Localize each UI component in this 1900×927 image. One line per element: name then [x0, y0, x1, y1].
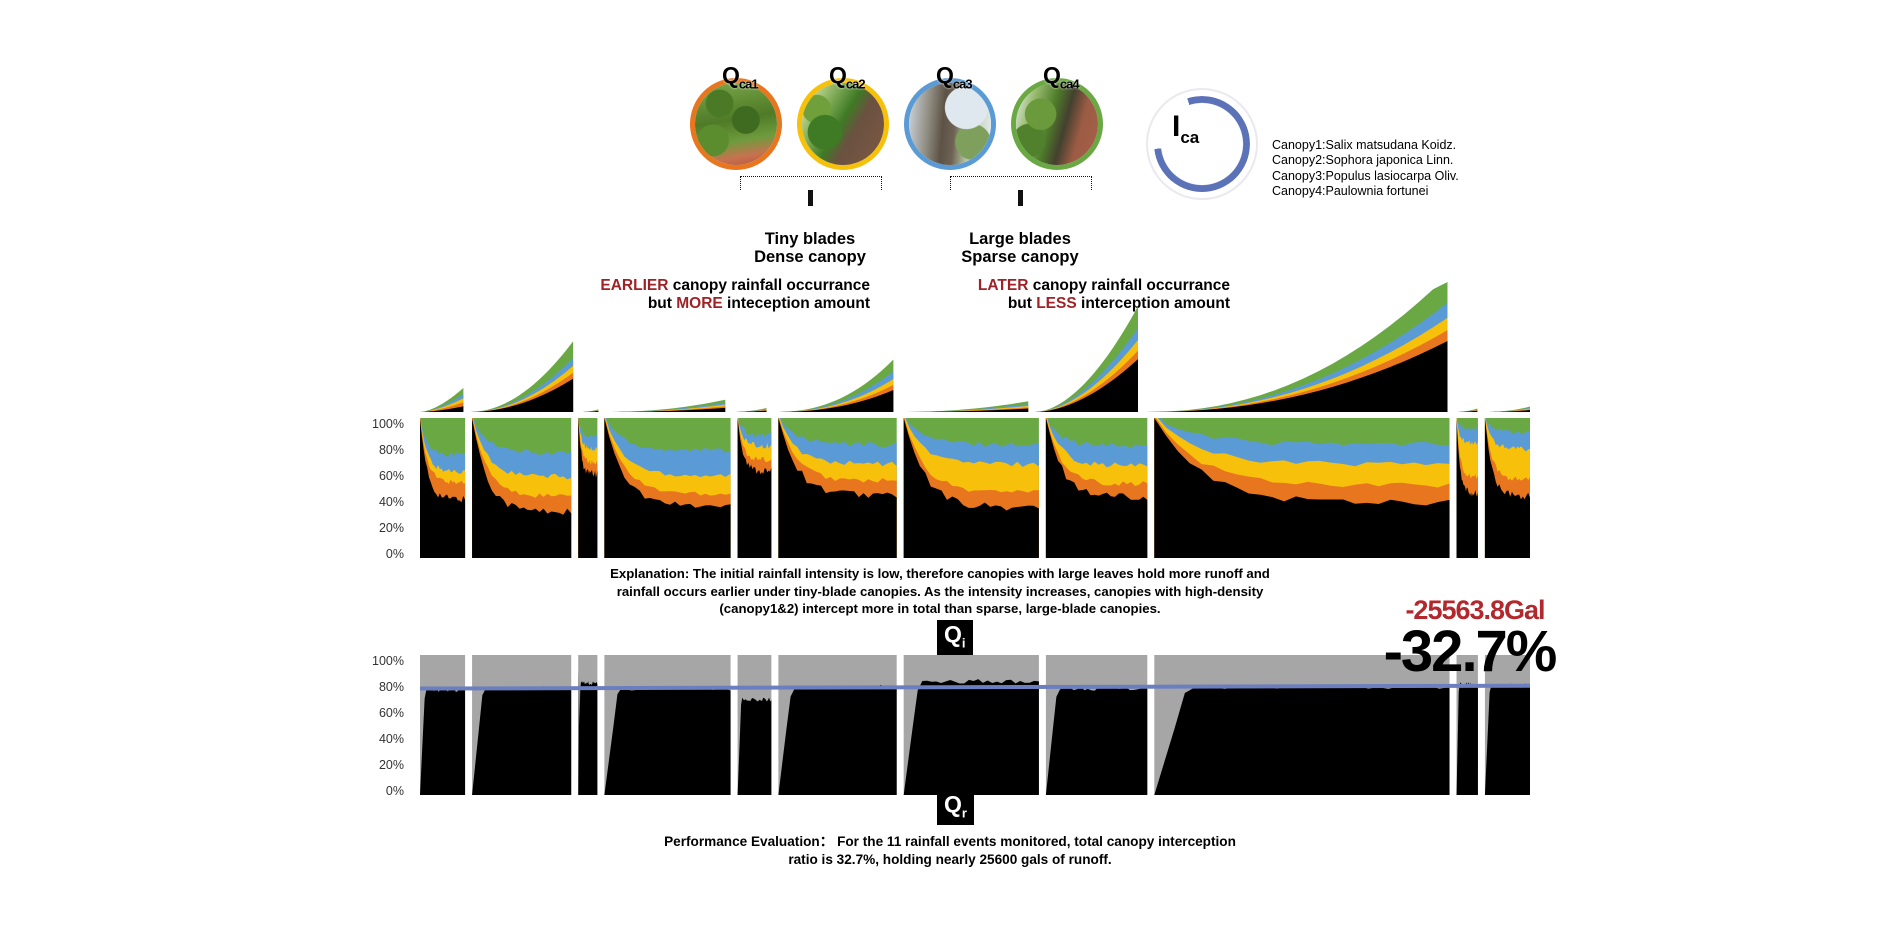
bracket-large-blades — [950, 176, 1092, 190]
canopy-symbol-main-3: Q — [936, 62, 953, 88]
canopy-circle-4 — [1011, 78, 1103, 170]
share-axis-tick-80pct: 80% — [379, 444, 404, 457]
share-axis-tick-0pct: 0% — [386, 548, 404, 561]
qi-symbol: Q — [944, 621, 962, 647]
canopy-symbol-main-2: Q — [829, 62, 846, 88]
ica-ring-arc — [1154, 96, 1250, 192]
chart-cumulative-volume — [420, 282, 1530, 412]
runoff-area-event-2 — [472, 686, 571, 795]
ica-symbol: Ica — [1172, 112, 1199, 146]
runoff-area-event-6 — [778, 685, 896, 795]
runoff-area-event-1 — [420, 688, 465, 795]
canopy-photo-4 — [1016, 83, 1098, 165]
canopy-symbol-sub-1: ca1 — [739, 77, 758, 92]
species-legend-item-3: Canopy3:Populus lasiocarpa Oliv. — [1272, 169, 1459, 184]
axis-labels-runoff-chart: 100%80%60%40%20%0% — [358, 655, 404, 795]
group-label-large-blades: Large blades Sparse canopy — [940, 230, 1100, 267]
bracket-stem-large-blades — [1018, 190, 1023, 206]
group-label-tiny-line2: Dense canopy — [730, 248, 890, 266]
bracket-stem-tiny-blades — [808, 190, 813, 206]
canopy-photo-3 — [909, 83, 991, 165]
qr-symbol: Q — [944, 791, 962, 817]
canopy-symbol-sub-2: ca2 — [846, 77, 865, 92]
qi-sub: i — [962, 636, 966, 651]
runoff-area-event-8 — [1046, 686, 1147, 795]
runoff-axis-tick-40pct: 40% — [379, 733, 404, 746]
axis-labels-share-chart: 100%80%60%40%20%0% — [358, 418, 404, 558]
canopy-symbol-3: Qca3 — [936, 64, 972, 91]
species-legend-item-1: Canopy1:Salix matsudana Koidz. — [1272, 138, 1459, 153]
infographic-canvas: Qca1Qca2Qca3Qca4 Ica Canopy1:Salix matsu… — [0, 0, 1900, 927]
runoff-axis-tick-80pct: 80% — [379, 681, 404, 694]
runoff-area-event-5 — [738, 697, 772, 795]
canopy-circle-3 — [904, 78, 996, 170]
share-axis-tick-40pct: 40% — [379, 496, 404, 509]
species-legend-item-2: Canopy2:Sophora japonica Linn. — [1272, 153, 1459, 168]
canopy-circle-1 — [690, 78, 782, 170]
species-legend-item-4: Canopy4:Paulownia fortunei — [1272, 184, 1459, 199]
group-label-tiny-line1: Tiny blades — [730, 230, 890, 248]
canopy-circle-2 — [797, 78, 889, 170]
canopy-symbol-1: Qca1 — [722, 64, 758, 91]
species-legend: Canopy1:Salix matsudana Koidz.Canopy2:So… — [1272, 138, 1459, 199]
ica-symbol-sub: ca — [1180, 128, 1199, 147]
runoff-axis-tick-20pct: 20% — [379, 759, 404, 772]
canopy-symbol-4: Qca4 — [1043, 64, 1079, 91]
canopy-photo-row: Qca1Qca2Qca3Qca4 — [690, 78, 1120, 170]
share-axis-tick-60pct: 60% — [379, 470, 404, 483]
group-label-tiny-blades: Tiny blades Dense canopy — [730, 230, 890, 267]
canopy-symbol-2: Qca2 — [829, 64, 865, 91]
runoff-area-event-4 — [604, 686, 730, 795]
label-qi-interception: Qi — [937, 620, 973, 655]
label-qr-runoff: Qr — [937, 790, 974, 825]
canopy-symbol-sub-3: ca3 — [953, 77, 972, 92]
group-label-large-line2: Sparse canopy — [940, 248, 1100, 266]
qr-sub: r — [962, 806, 967, 821]
canopy-symbol-main-4: Q — [1043, 62, 1060, 88]
performance-badge: -25563.8Gal -32.7% — [1392, 575, 1592, 775]
canopy-symbol-sub-4: ca4 — [1060, 77, 1079, 92]
runoff-axis-tick-100pct: 100% — [372, 655, 404, 668]
bracket-tiny-blades — [740, 176, 882, 190]
performance-badge-percent: -32.7% — [1362, 623, 1577, 681]
performance-evaluation-text: Performance Evaluation： For the 11 rainf… — [660, 833, 1240, 870]
chart-interception-share — [420, 418, 1530, 558]
runoff-axis-tick-0pct: 0% — [386, 785, 404, 798]
runoff-axis-tick-60pct: 60% — [379, 707, 404, 720]
canopy-photo-2 — [802, 83, 884, 165]
runoff-area-event-7 — [904, 679, 1039, 795]
canopy-symbol-main-1: Q — [722, 62, 739, 88]
group-label-large-line1: Large blades — [940, 230, 1100, 248]
ica-donut-indicator: Ica — [1146, 88, 1258, 200]
share-axis-tick-100pct: 100% — [372, 418, 404, 431]
share-axis-tick-20pct: 20% — [379, 522, 404, 535]
canopy-photo-1 — [695, 83, 777, 165]
explanation-text: Explanation: The initial rainfall intens… — [600, 565, 1280, 618]
